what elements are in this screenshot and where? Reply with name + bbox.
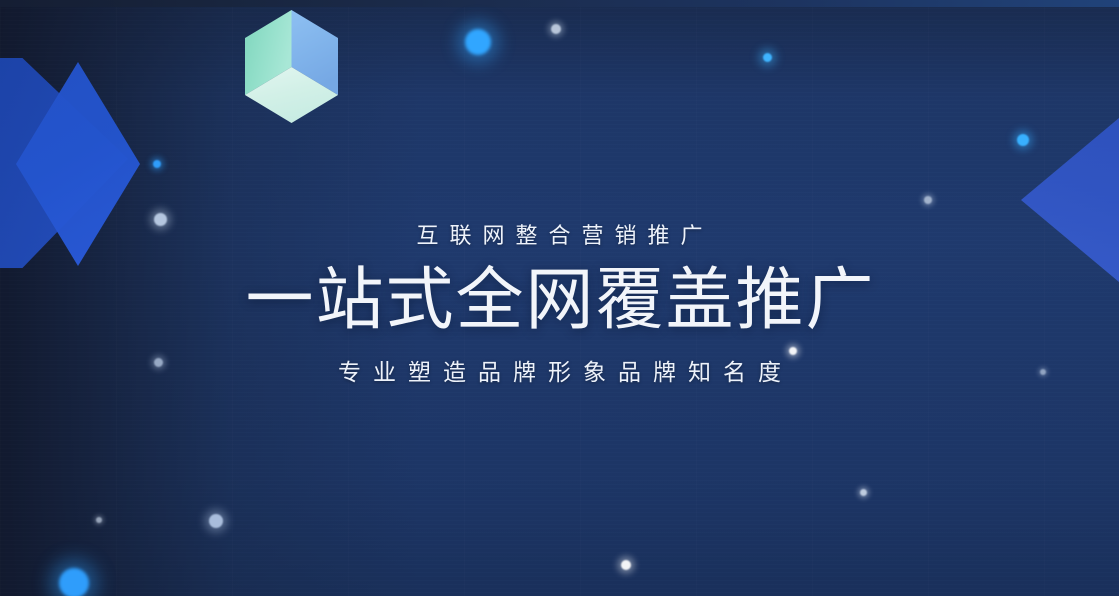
banner-eyebrow: 互联网整合营销推广 bbox=[0, 222, 1119, 250]
cube-logo-icon bbox=[245, 10, 338, 123]
promo-banner: 互联网整合营销推广 一站式全网覆盖推广 专业塑造品牌形象品牌知名度 bbox=[0, 0, 1119, 596]
background-top-strip bbox=[0, 0, 1119, 7]
banner-tagline: 专业塑造品牌形象品牌知名度 bbox=[0, 353, 1119, 387]
hero-text-block: 互联网整合营销推广 一站式全网覆盖推广 专业塑造品牌形象品牌知名度 bbox=[0, 222, 1119, 387]
banner-headline: 一站式全网覆盖推广 bbox=[0, 264, 1119, 336]
